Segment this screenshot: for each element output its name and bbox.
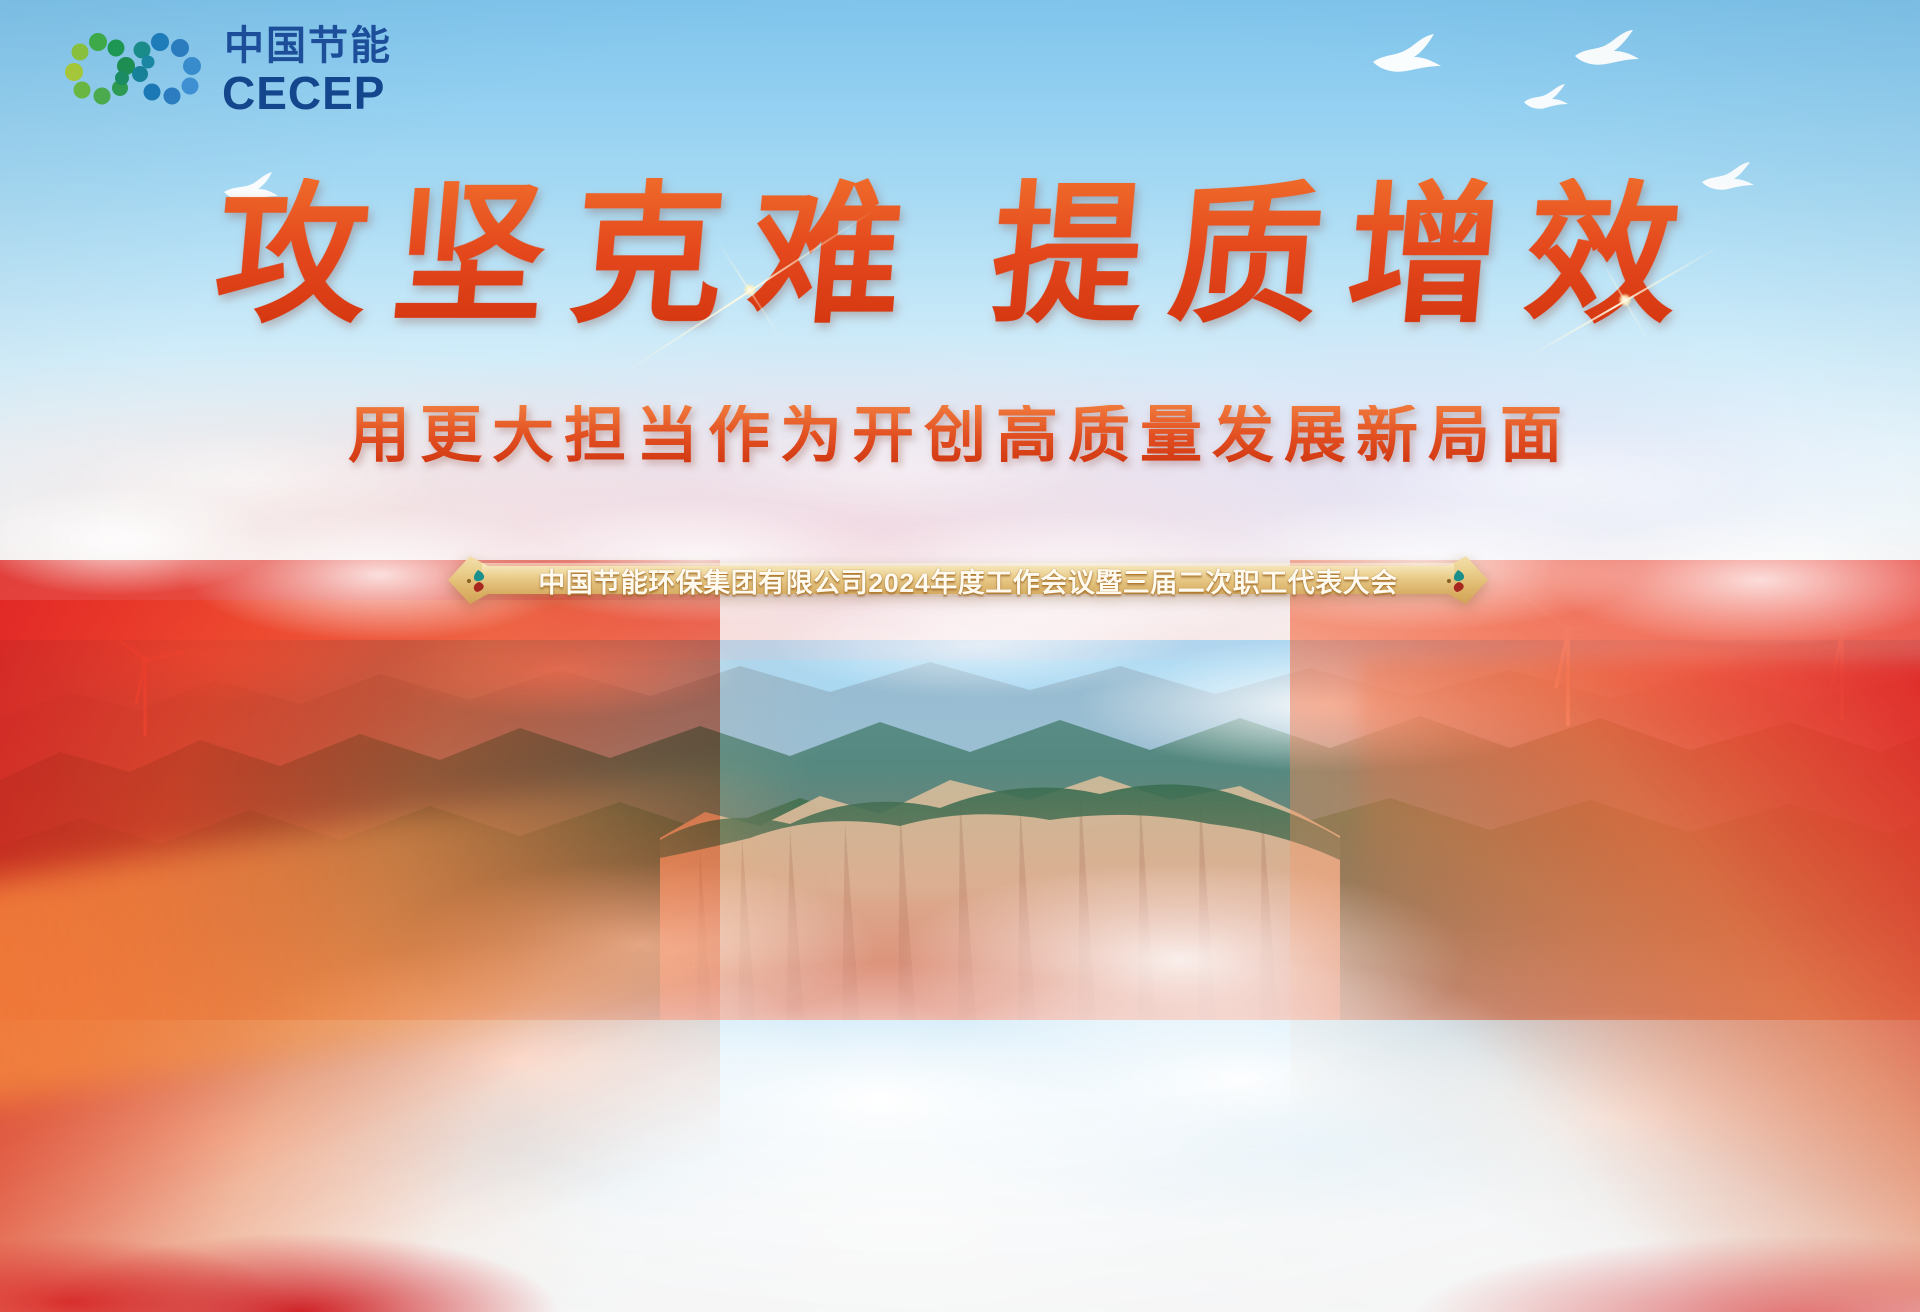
wind-turbine-far-right-icon (1790, 582, 1890, 722)
wind-turbine-left-icon (100, 618, 190, 738)
cecep-logo: 中国节能 CECEP (56, 22, 396, 114)
mountain-red-tint (0, 770, 1920, 1020)
logo-english-name: CECEP (222, 70, 385, 116)
dove-top-center-icon (1370, 32, 1444, 80)
red-glow-bottom (0, 1152, 1920, 1312)
poster-subtitle: 用更大担当作为开创高质量发展新局面 (0, 405, 1920, 467)
conference-backdrop-poster: 中国节能 CECEP 攻坚克难 提质增效 用更大担当作为开创高质量发展新局面 中… (0, 0, 1920, 1312)
logo-chinese-name: 中国节能 (224, 26, 392, 66)
dove-top-right-icon (1572, 28, 1642, 72)
wind-turbine-mid-right-icon (1510, 578, 1620, 728)
ribbon-conference-title: 中国节能环保集团有限公司2024年度工作会议暨三届二次职工代表大会 (448, 556, 1488, 604)
dove-right-small-icon (1522, 82, 1570, 114)
cecep-double-ring-logo-icon (56, 26, 216, 114)
poster-main-title: 攻坚克难 提质增效 (0, 178, 1920, 338)
mountain-range (0, 600, 1920, 1020)
mountain-silhouettes (0, 600, 1920, 1020)
conference-name-ribbon: 中国节能环保集团有限公司2024年度工作会议暨三届二次职工代表大会 (448, 556, 1488, 604)
